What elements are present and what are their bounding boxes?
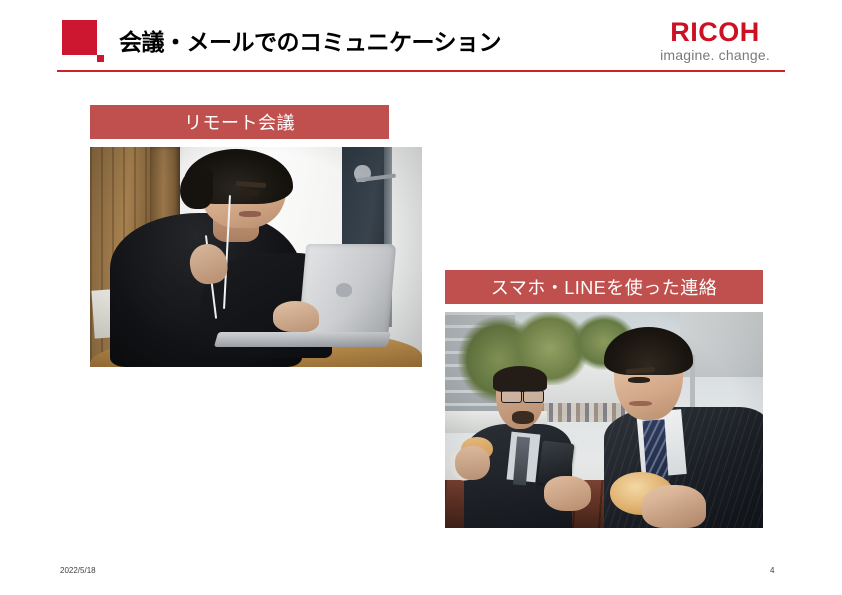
footer-page-number: 4	[770, 566, 774, 575]
page-title: 会議・メールでのコミュニケーション	[119, 20, 639, 60]
photo-vignette	[445, 312, 763, 528]
banner-smartphone-line: スマホ・LINEを使った連絡	[445, 270, 763, 304]
photo-vignette	[90, 147, 422, 367]
header-red-rule	[57, 70, 785, 72]
red-square-accent-dot	[97, 55, 104, 62]
ricoh-logo: RICOH imagine. change.	[645, 18, 785, 63]
ricoh-tagline: imagine. change.	[645, 47, 785, 63]
photo-smartphone-line	[445, 312, 763, 528]
footer-date: 2022/5/18	[60, 566, 96, 575]
presentation-slide: 会議・メールでのコミュニケーション RICOH imagine. change.…	[0, 0, 842, 595]
photo-remote-meeting	[90, 147, 422, 367]
red-square-logo-mark	[62, 20, 97, 55]
banner-remote-meeting: リモート会議	[90, 105, 389, 139]
ricoh-wordmark: RICOH	[645, 18, 785, 46]
